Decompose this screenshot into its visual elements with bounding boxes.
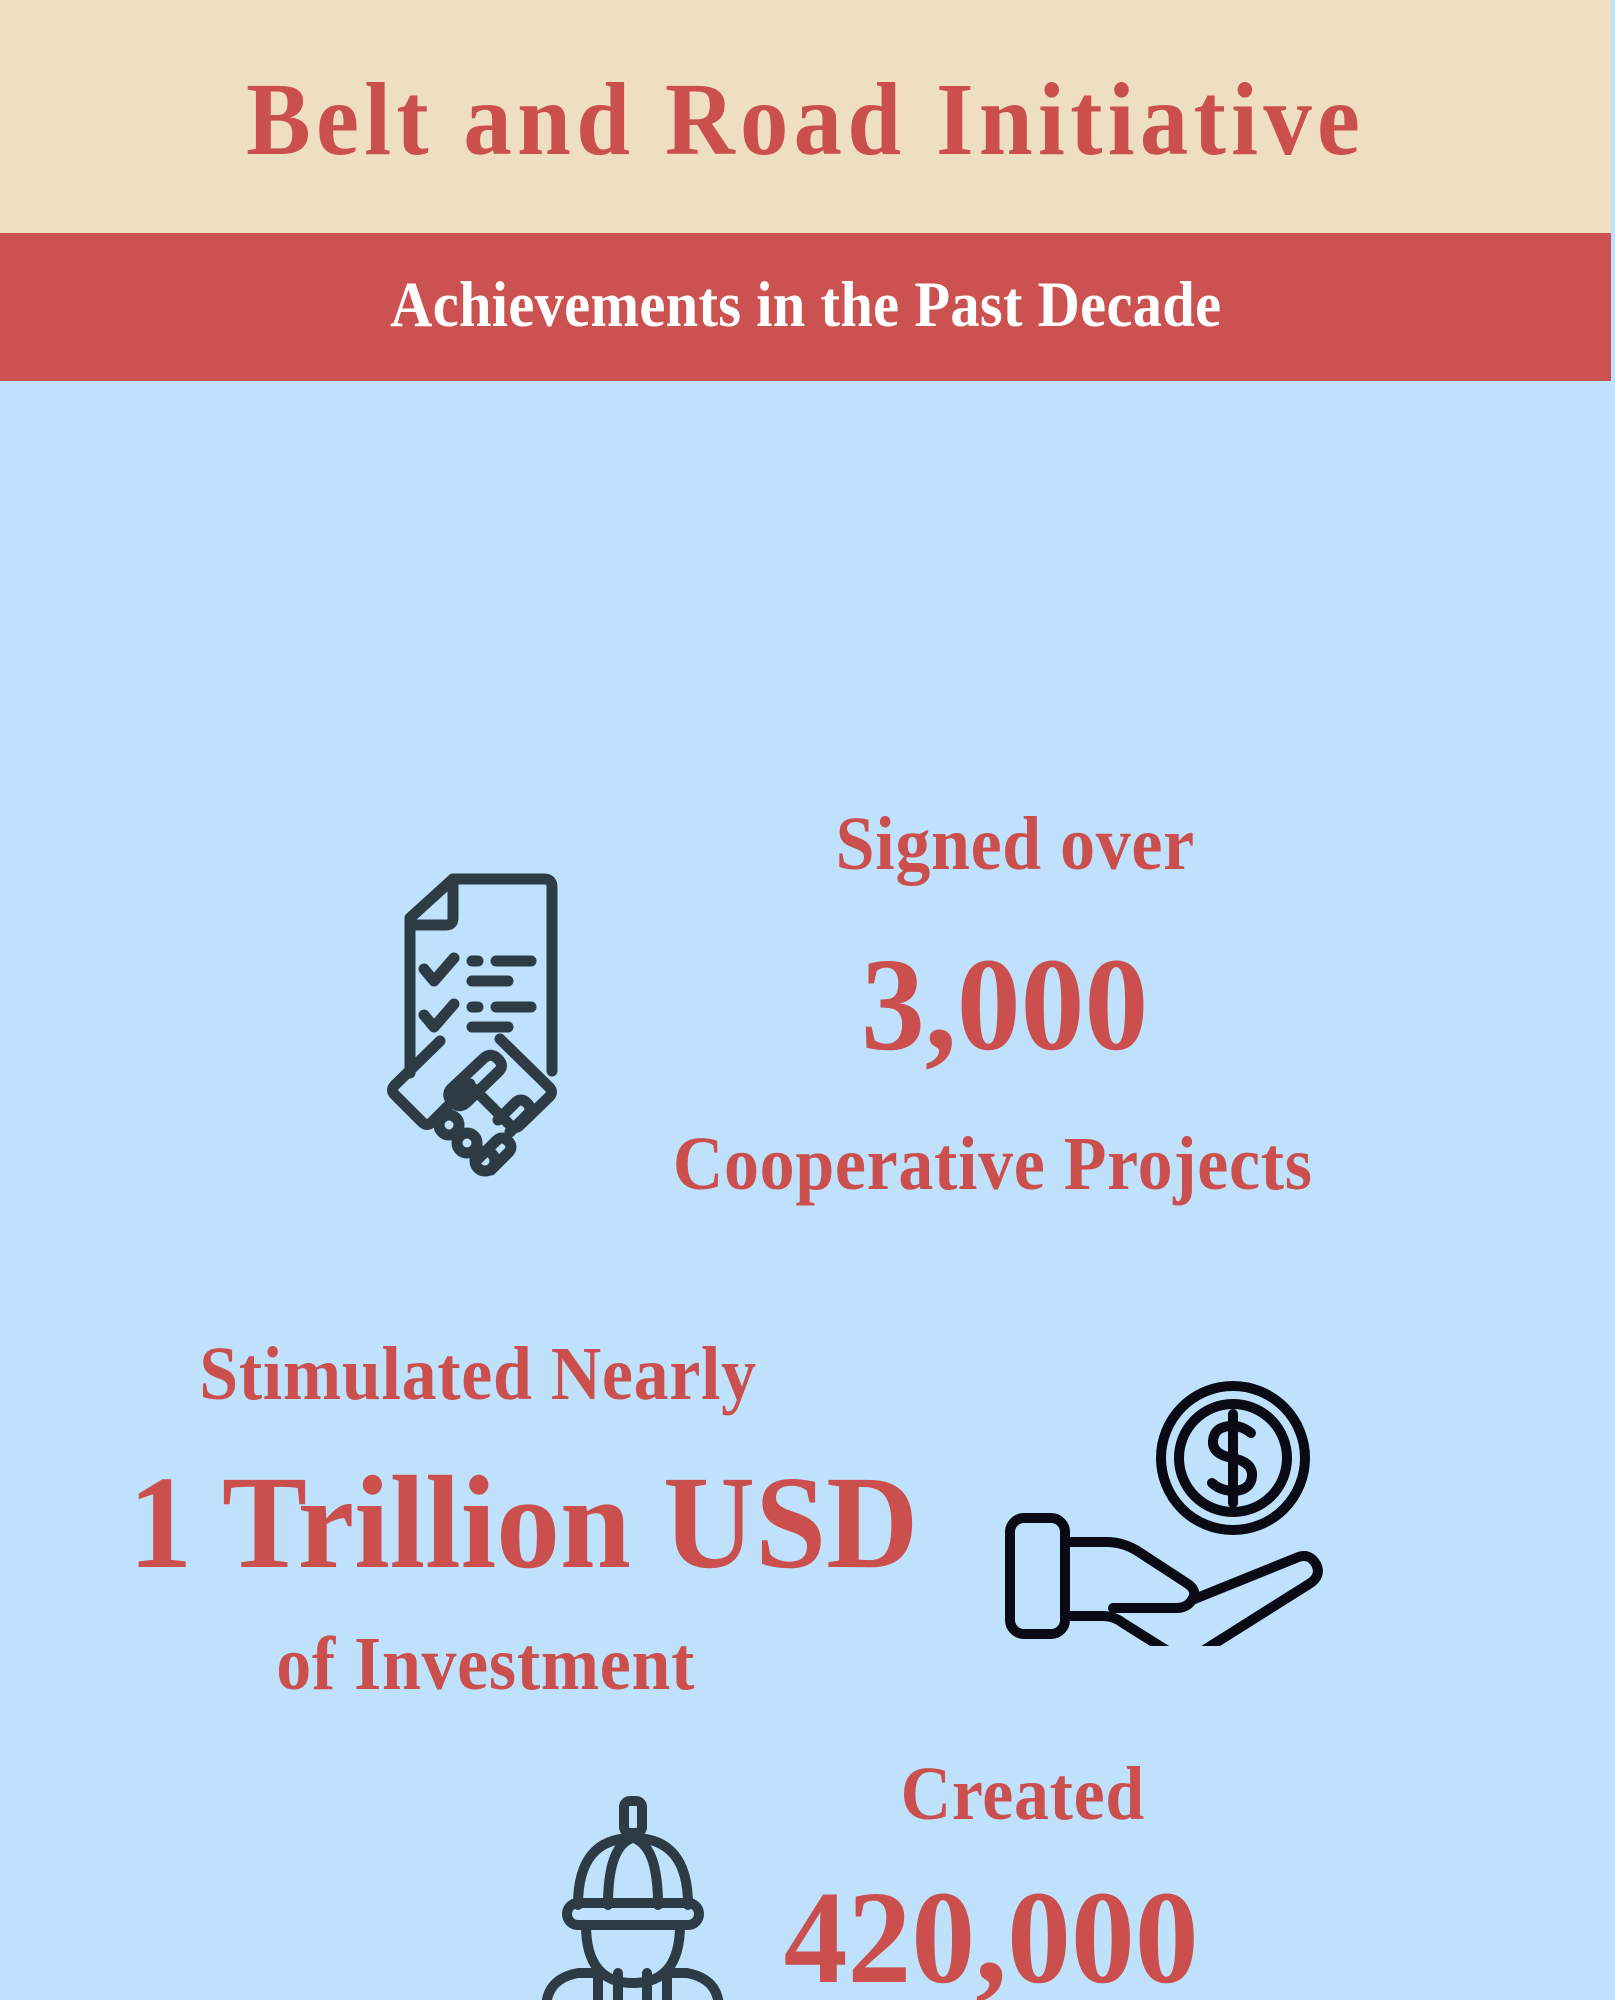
page-subtitle: Achievements in the Past Decade — [390, 273, 1221, 342]
stat-number-investment: 1 Trillion USD — [128, 1456, 918, 1589]
stat-tail-cooperative-projects: Cooperative Projects — [673, 1126, 1313, 1202]
subtitle-band: Achievements in the Past Decade — [0, 233, 1611, 381]
stats-body: Signed over 3,000 Cooperative Projects S… — [0, 381, 1615, 2000]
stat-number-cooperative-projects: 3,000 — [861, 938, 1148, 1071]
stat-lead-cooperative-projects: Signed over — [836, 806, 1195, 882]
stat-number-jobs: 420,000 — [784, 1871, 1199, 2000]
hand-holding-coin-icon — [1000, 1366, 1335, 1646]
stat-lead-jobs: Created — [901, 1756, 1145, 1832]
title-bar: Belt and Road Initiative — [0, 0, 1611, 233]
stat-lead-investment: Stimulated Nearly — [199, 1336, 757, 1412]
page-title: Belt and Road Initiative — [246, 62, 1365, 172]
stat-tail-investment: of Investment — [276, 1626, 695, 1702]
construction-worker-icon — [520, 1793, 745, 2000]
infographic-poster: Belt and Road Initiative Achievements in… — [0, 0, 1615, 2000]
handshake-document-icon — [348, 873, 588, 1178]
